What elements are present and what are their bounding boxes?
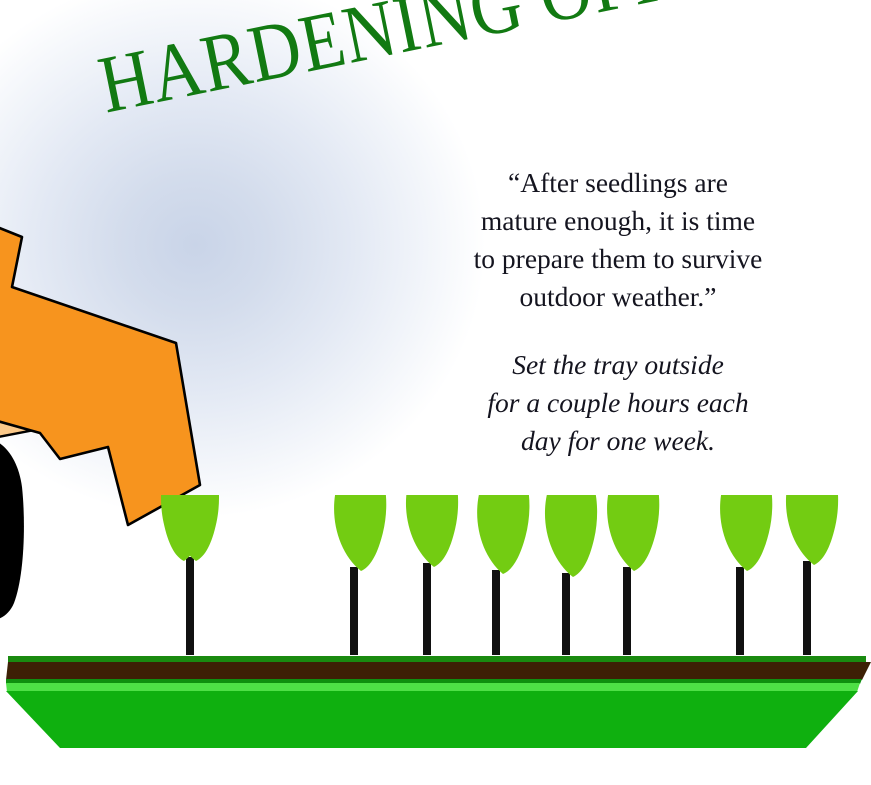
copy-spacer <box>432 316 804 346</box>
seedling-7 <box>704 495 785 655</box>
seedling-leaf <box>704 495 785 574</box>
seedling-stem <box>623 567 631 655</box>
seedling-5 <box>530 495 610 655</box>
seedling-stem <box>423 563 431 655</box>
quote-line-3: to prepare them to survive <box>432 240 804 278</box>
quote-line-4: outdoor weather.” <box>432 278 804 316</box>
seedling-stem <box>736 567 744 655</box>
tray-highlight <box>6 683 860 692</box>
seedling-stem <box>186 557 194 655</box>
poster-canvas: HARDENING OFF “After seedlings are matur… <box>0 0 871 785</box>
seedling-leaf <box>591 495 672 574</box>
instruction-line-2: for a couple hours each <box>432 384 804 422</box>
seedling-stem <box>492 570 500 655</box>
seedling-leaf <box>391 495 471 570</box>
instruction-line-3: day for one week. <box>432 422 804 460</box>
seedling-leaf <box>460 495 543 577</box>
seedling-3 <box>391 495 471 655</box>
seedling-4 <box>460 495 543 655</box>
seedling-leaf <box>530 495 610 580</box>
seedling-8 <box>771 495 851 655</box>
seedling-stem <box>803 561 811 655</box>
seedling-2 <box>318 495 399 655</box>
seedling-stem <box>350 567 358 655</box>
seedling-stem <box>562 573 570 655</box>
seedling-leaf <box>771 495 851 568</box>
seedling-1 <box>149 495 231 655</box>
quote-line-1: “After seedlings are <box>432 164 804 202</box>
tray-soil <box>6 662 871 680</box>
tray-body <box>6 691 858 748</box>
seedling-6 <box>591 495 672 655</box>
seed-tray <box>0 648 871 758</box>
copy-block: “After seedlings are mature enough, it i… <box>432 164 804 460</box>
horse-head-shape <box>0 225 200 525</box>
quote-line-2: mature enough, it is time <box>432 202 804 240</box>
instruction-line-1: Set the tray outside <box>432 346 804 384</box>
seedling-leaf <box>318 495 399 574</box>
